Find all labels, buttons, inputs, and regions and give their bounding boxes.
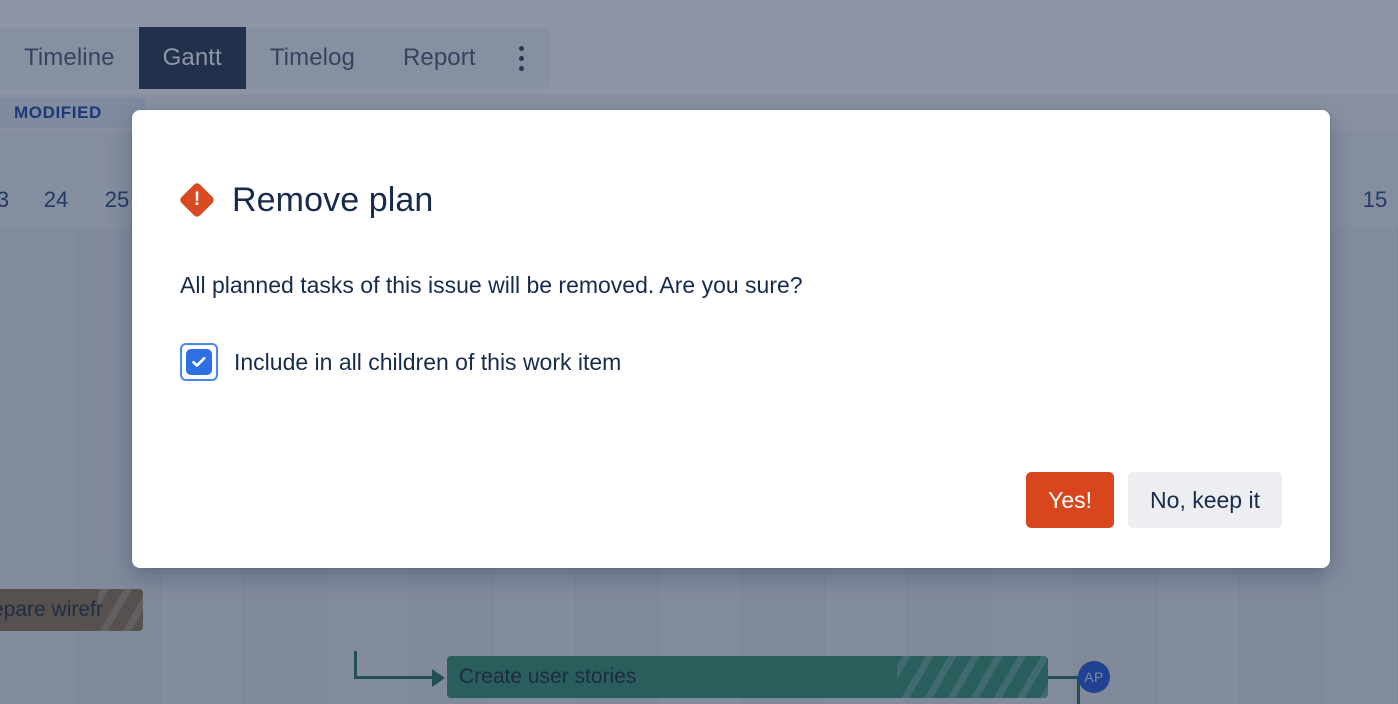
dialog-header: ! Remove plan xyxy=(180,174,1282,226)
include-children-label[interactable]: Include in all children of this work ite… xyxy=(234,349,621,376)
warning-diamond-icon: ! xyxy=(180,183,214,217)
dialog-title: Remove plan xyxy=(232,181,433,220)
cancel-button[interactable]: No, keep it xyxy=(1128,472,1282,528)
dialog-actions: Yes! No, keep it xyxy=(1026,472,1282,528)
dialog-message: All planned tasks of this issue will be … xyxy=(180,272,1282,299)
include-children-checkbox[interactable] xyxy=(180,343,218,381)
confirm-remove-button[interactable]: Yes! xyxy=(1026,472,1114,528)
app-root: Timeline Gantt Timelog Report xyxy=(0,0,1398,704)
checkbox-fill xyxy=(186,349,212,375)
warning-exclamation-glyph: ! xyxy=(180,183,214,217)
include-children-row[interactable]: Include in all children of this work ite… xyxy=(180,343,1282,381)
remove-plan-dialog: ! Remove plan All planned tasks of this … xyxy=(132,110,1330,568)
